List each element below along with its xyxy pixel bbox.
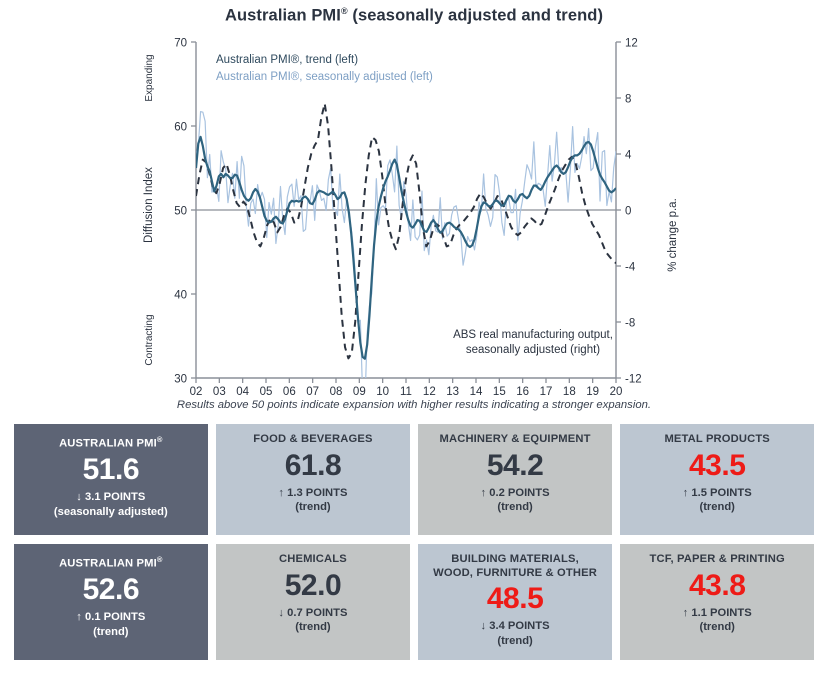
x-axis-tick: 04 <box>236 386 249 398</box>
metric-card-note: (trend) <box>497 500 532 515</box>
y-axis-right-tick: -8 <box>625 318 635 330</box>
y-axis-right-tick: 4 <box>625 150 632 162</box>
metric-card-title: CHEMICALS <box>279 553 347 567</box>
metric-card[interactable]: METAL PRODUCTS43.5↑ 1.5 POINTS(trend) <box>620 424 814 535</box>
y-axis-right-tick: -4 <box>625 262 636 274</box>
x-axis-tick: 11 <box>400 386 412 398</box>
metric-card-value: 61.8 <box>285 449 341 483</box>
metric-card-change: ↓ 0.7 POINTS <box>278 606 347 621</box>
registered-trademark-icon: ® <box>157 435 163 444</box>
x-axis-tick: 03 <box>213 386 226 398</box>
x-axis-tick: 02 <box>190 386 203 398</box>
chart-plot: 3040506070-12-8-404812020304050607080910… <box>0 0 828 418</box>
metric-card[interactable]: AUSTRALIAN PMI®52.6↑ 0.1 POINTS(trend) <box>14 544 208 660</box>
y-axis-left-tick: 30 <box>174 374 187 386</box>
legend-item-seasonally-adjusted: Australian PMI®, seasonally adjusted (le… <box>216 71 433 83</box>
metric-card[interactable]: TCF, PAPER & PRINTING43.8↑ 1.1 POINTS(tr… <box>620 544 814 660</box>
chart-annotation-line2: seasonally adjusted (right) <box>466 344 600 356</box>
x-axis-tick: 14 <box>470 386 483 398</box>
metric-card[interactable]: BUILDING MATERIALS,WOOD, FURNITURE & OTH… <box>418 544 612 660</box>
metric-card-note: (trend) <box>295 500 330 515</box>
metric-card-value: 52.0 <box>285 569 341 603</box>
series-pmi-seasonally-adjusted <box>196 112 616 404</box>
chart-annotation-line1: ABS real manufacturing output, <box>453 329 613 341</box>
metric-card-change: ↑ 1.3 POINTS <box>278 486 347 501</box>
metric-card[interactable]: MACHINERY & EQUIPMENT54.2↑ 0.2 POINTS(tr… <box>418 424 612 535</box>
y-axis-left-tick: 40 <box>174 290 187 302</box>
x-axis-tick: 20 <box>610 386 623 398</box>
x-axis-tick: 07 <box>306 386 319 398</box>
metric-card-value: 48.5 <box>487 582 543 616</box>
metric-card-change: ↓ 3.1 POINTS <box>76 490 145 505</box>
metric-card-value: 51.6 <box>83 453 139 487</box>
metric-card[interactable]: AUSTRALIAN PMI®51.6↓ 3.1 POINTS(seasonal… <box>14 424 208 535</box>
metric-card-row-2: AUSTRALIAN PMI®52.6↑ 0.1 POINTS(trend)CH… <box>14 544 814 660</box>
metric-card-change: ↑ 1.1 POINTS <box>683 606 752 621</box>
metric-card-note: (trend) <box>699 500 734 515</box>
y-axis-contracting-label: Contracting <box>144 314 155 365</box>
metric-card-grid: AUSTRALIAN PMI®51.6↓ 3.1 POINTS(seasonal… <box>14 424 814 669</box>
legend-item-trend: Australian PMI®, trend (left) <box>216 54 358 66</box>
x-axis-tick: 16 <box>516 386 529 398</box>
metric-card-title: METAL PRODUCTS <box>664 433 769 447</box>
x-axis-tick: 18 <box>563 386 576 398</box>
x-axis-tick: 15 <box>493 386 506 398</box>
metric-card[interactable]: FOOD & BEVERAGES61.8↑ 1.3 POINTS(trend) <box>216 424 410 535</box>
metric-card-change: ↑ 0.1 POINTS <box>76 610 145 625</box>
registered-trademark-icon: ® <box>157 555 163 564</box>
metric-card-note: (seasonally adjusted) <box>54 505 168 520</box>
y-axis-left-tick: 60 <box>174 122 187 134</box>
metric-card-note: (trend) <box>295 620 330 635</box>
y-axis-right-tick: 8 <box>625 94 631 106</box>
x-axis-tick: 12 <box>423 386 436 398</box>
metric-card-value: 43.5 <box>689 449 745 483</box>
y-axis-left-tick: 50 <box>174 206 187 218</box>
metric-card-row-1: AUSTRALIAN PMI®51.6↓ 3.1 POINTS(seasonal… <box>14 424 814 535</box>
chart-footnote: Results above 50 points indicate expansi… <box>0 399 828 411</box>
metric-card-value: 54.2 <box>487 449 543 483</box>
metric-card-note: (trend) <box>699 620 734 635</box>
y-axis-expanding-label: Expanding <box>144 54 155 101</box>
x-axis-tick: 08 <box>330 386 343 398</box>
metric-card-title: MACHINERY & EQUIPMENT <box>440 433 591 447</box>
x-axis-tick: 19 <box>586 386 599 398</box>
metric-card-title: FOOD & BEVERAGES <box>253 433 372 447</box>
metric-card-title: TCF, PAPER & PRINTING <box>650 553 785 567</box>
metric-card-change: ↑ 0.2 POINTS <box>481 486 550 501</box>
metric-card-value: 52.6 <box>83 573 139 607</box>
y-axis-right-title: % change p.a. <box>667 198 679 272</box>
x-axis-tick: 06 <box>283 386 296 398</box>
y-axis-right-tick: 12 <box>625 38 638 50</box>
x-axis-tick: 17 <box>540 386 553 398</box>
metric-card-title: AUSTRALIAN PMI® <box>59 553 163 571</box>
y-axis-right-tick: -12 <box>625 374 642 386</box>
metric-card[interactable]: CHEMICALS52.0↓ 0.7 POINTS(trend) <box>216 544 410 660</box>
y-axis-right-tick: 0 <box>625 206 631 218</box>
metric-card-change: ↑ 1.5 POINTS <box>683 486 752 501</box>
x-axis-tick: 10 <box>376 386 389 398</box>
metric-card-note: (trend) <box>93 625 128 640</box>
series-pmi-trend <box>196 137 616 359</box>
x-axis-tick: 13 <box>446 386 459 398</box>
x-axis-tick: 05 <box>260 386 273 398</box>
y-axis-left-tick: 70 <box>174 38 187 50</box>
metric-card-title: AUSTRALIAN PMI® <box>59 433 163 451</box>
metric-card-title: BUILDING MATERIALS,WOOD, FURNITURE & OTH… <box>433 553 597 580</box>
x-axis-tick: 09 <box>353 386 366 398</box>
metric-card-value: 43.8 <box>689 569 745 603</box>
metric-card-change: ↓ 3.4 POINTS <box>481 619 550 634</box>
metric-card-note: (trend) <box>497 634 532 649</box>
series-abs-manufacturing-output <box>196 104 616 359</box>
y-axis-left-title: Diffusion Index <box>143 167 155 243</box>
chart-panel: Australian PMI® (seasonally adjusted and… <box>0 0 828 418</box>
